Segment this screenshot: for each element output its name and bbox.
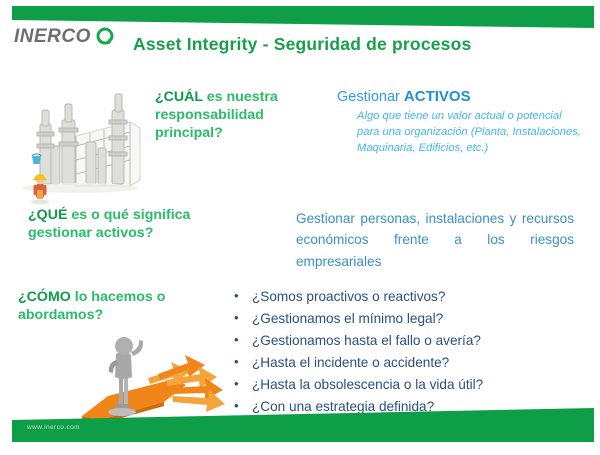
- brand-logo: INERCO: [14, 26, 115, 46]
- question-que-keyword: ¿QUÉ: [28, 207, 67, 223]
- question-que: ¿QUÉ es o qué significa gestionar activo…: [28, 206, 258, 242]
- top-green-bar: [12, 6, 594, 28]
- question-como: ¿CÓMO lo hacemos o abordamos?: [18, 288, 233, 324]
- list-item: ¿Somos proactivos o reactivos?: [230, 286, 580, 308]
- answer-activos-head: Gestionar ACTIVOS: [337, 88, 587, 106]
- bottom-green-bar: [12, 408, 594, 442]
- question-cual: ¿CUÁL es nuestra responsabilidad princip…: [155, 88, 335, 143]
- answer-activos-strong: ACTIVOS: [404, 88, 471, 105]
- answer-activos: Gestionar ACTIVOS Algo que tiene un valo…: [337, 88, 587, 157]
- answer-activos-lead: Gestionar: [337, 89, 404, 105]
- answer-activos-definition: Algo que tiene un valor actual o potenci…: [357, 109, 587, 157]
- answer-gestionar: Gestionar personas, instalaciones y recu…: [296, 208, 574, 272]
- question-cual-keyword: ¿CUÁL: [155, 89, 203, 105]
- list-item: ¿Hasta la obsolescencia o la vida útil?: [230, 374, 580, 396]
- recycle-swirl-icon: [95, 26, 115, 46]
- industrial-plant-illustration: [18, 84, 150, 204]
- question-como-keyword: ¿CÓMO: [18, 289, 71, 305]
- list-item: ¿Hasta el incidente o accidente?: [230, 352, 580, 374]
- list-item: ¿Gestionamos hasta el fallo o avería?: [230, 330, 580, 352]
- slide-canvas: INERCO Asset Integrity - Seguridad de pr…: [0, 0, 600, 455]
- question-list: ¿Somos proactivos o reactivos? ¿Gestiona…: [230, 286, 580, 418]
- list-item: ¿Gestionamos el mínimo legal?: [230, 308, 580, 330]
- footer-website-url: www.inerco.com: [27, 424, 80, 431]
- page-title: Asset Integrity - Seguridad de procesos: [133, 34, 471, 55]
- logo-wordmark: INERCO: [14, 27, 91, 46]
